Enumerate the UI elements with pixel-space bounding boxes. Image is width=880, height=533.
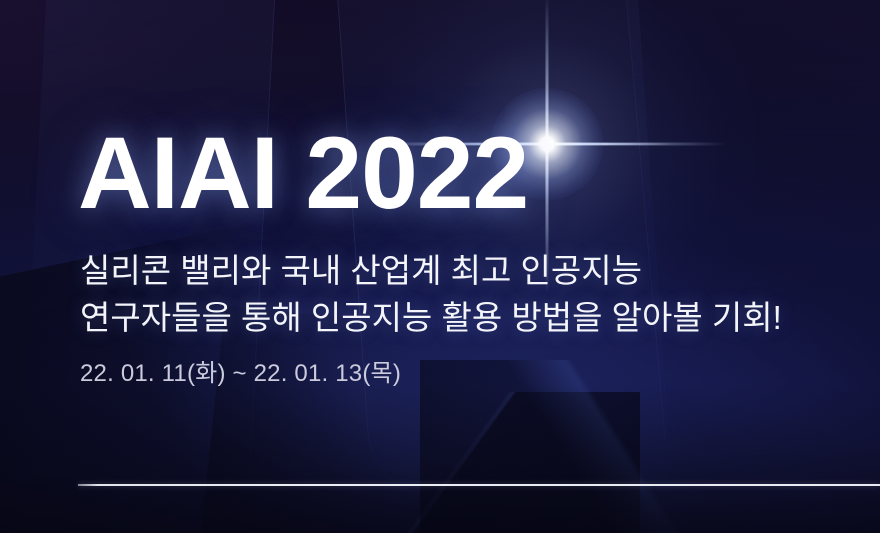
bottom-divider xyxy=(78,484,880,486)
banner-content: AIAI 2022 실리콘 밸리와 국내 산업계 최고 인공지능 연구자들을 통… xyxy=(78,0,858,533)
event-subtitle: 실리콘 밸리와 국내 산업계 최고 인공지능 연구자들을 통해 인공지능 활용 … xyxy=(80,248,782,342)
event-date-range: 22. 01. 11(화) ~ 22. 01. 13(목) xyxy=(80,362,401,386)
event-subtitle-line-1: 실리콘 밸리와 국내 산업계 최고 인공지능 xyxy=(80,248,782,295)
event-subtitle-line-2: 연구자들을 통해 인공지능 활용 방법을 알아볼 기회! xyxy=(80,295,782,342)
page-title: AIAI 2022 xyxy=(78,122,528,224)
aiai-2022-banner: AIAI 2022 실리콘 밸리와 국내 산업계 최고 인공지능 연구자들을 통… xyxy=(0,0,880,533)
